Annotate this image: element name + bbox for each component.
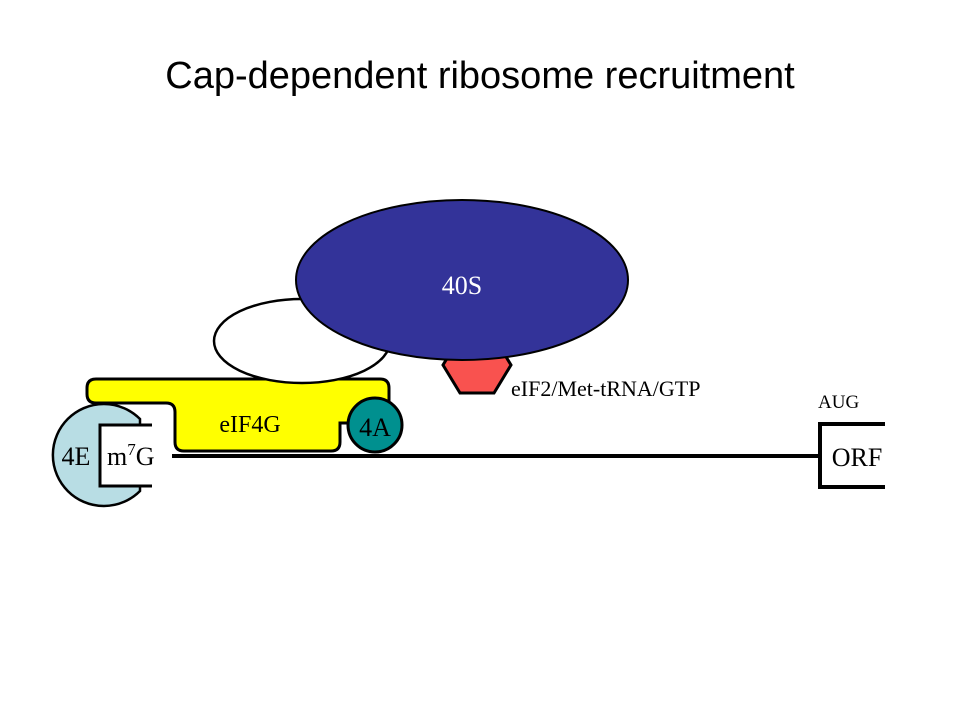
page-title: Cap-dependent ribosome recruitment (165, 55, 795, 97)
cap-label-base: m (107, 442, 127, 471)
ternary-complex-label: eIF2/Met-tRNA/GTP (511, 376, 700, 401)
diagram-canvas: Cap-dependent ribosome recruitment 40S e… (0, 0, 960, 720)
ribosome-40s-label: 40S (442, 271, 482, 300)
eif4a-label: 4A (359, 413, 391, 442)
slide-canvas: Cap-dependent ribosome recruitment 40S e… (0, 0, 960, 720)
eif4e-label: 4E (62, 442, 91, 471)
cap-label-tail: G (136, 442, 155, 471)
eif4g-label: eIF4G (219, 412, 280, 438)
orf-label: ORF (832, 443, 883, 472)
aug-annotation: AUG (818, 392, 859, 413)
